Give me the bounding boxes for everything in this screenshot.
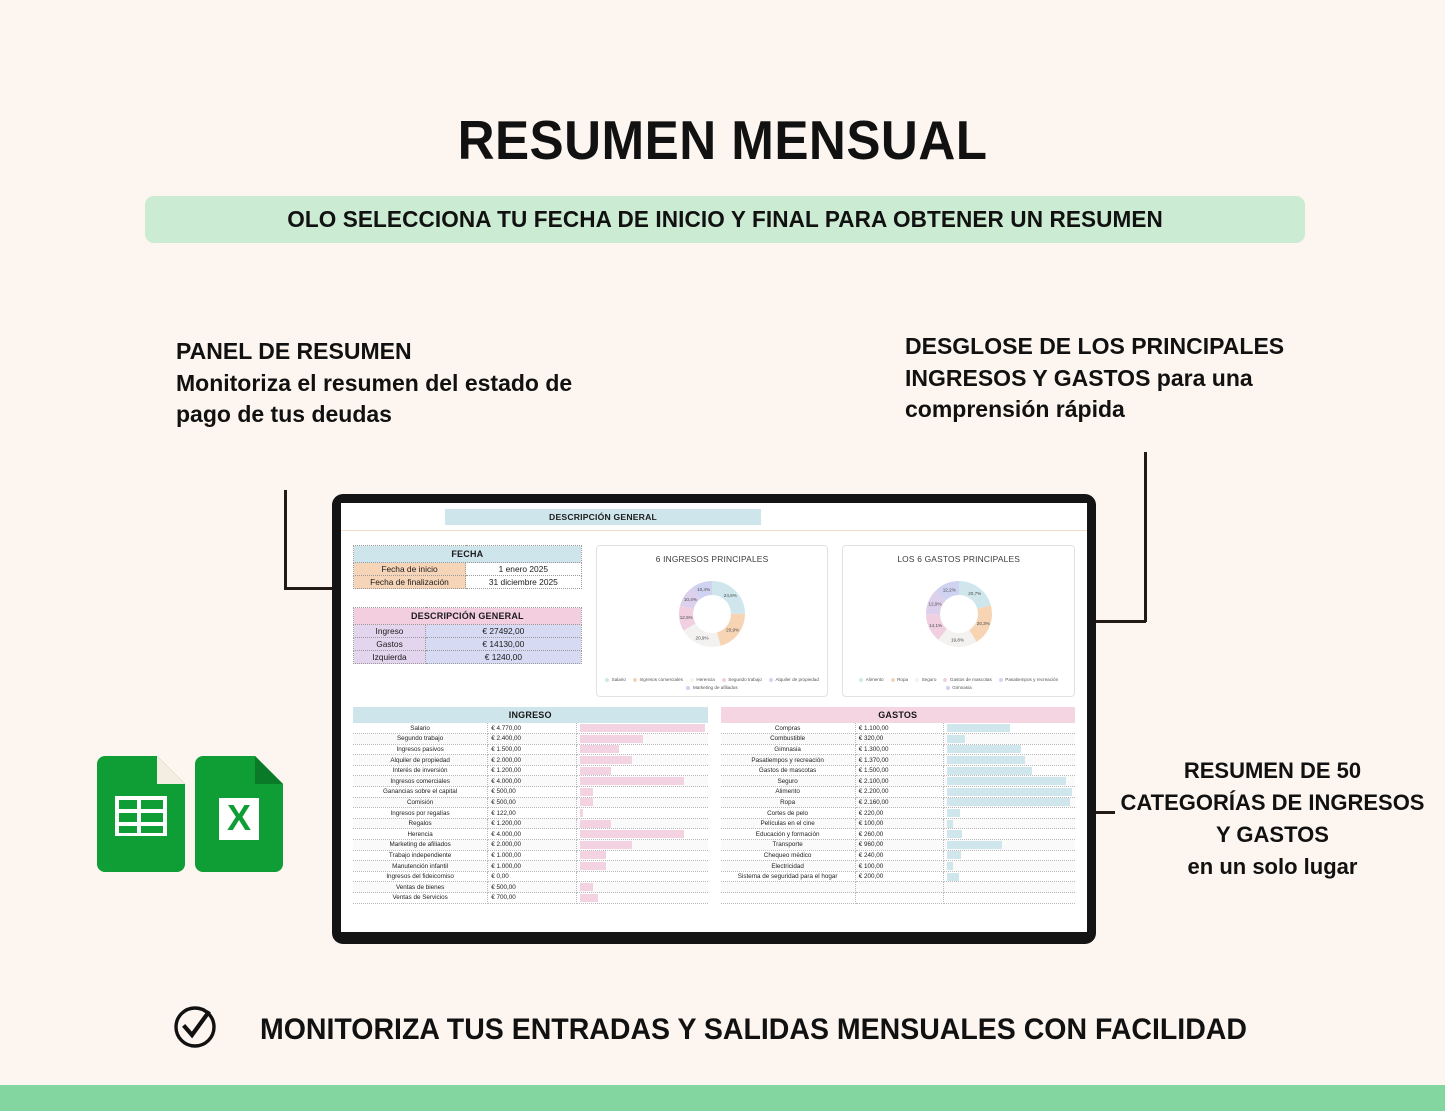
category-amount: € 100,00 [855,818,944,829]
table-row: Gastos € 14130,00 [354,638,582,651]
legend-item: Alquiler de propiedad [769,677,819,682]
expense-table-header: GASTOS [721,707,1076,723]
category-name: Combustible [721,734,856,745]
descripcion-label-gastos: Gastos [354,638,426,651]
legend-item: Salario [605,677,626,682]
annotation-summary-panel: PANEL DE RESUMEN Monitoriza el resumen d… [176,336,576,431]
legend-item: Pasatiempos y recreación [999,677,1058,682]
category-bar-cell [944,787,1075,798]
category-bar [580,767,611,775]
category-amount: € 320,00 [855,734,944,745]
category-amount: € 500,00 [488,882,577,893]
category-bar-cell [576,829,707,840]
category-bar-cell [944,755,1075,766]
category-bar [947,798,1069,806]
donut-segment-label: 24,9% [724,593,737,598]
table-row: Manutención infantil€ 1.000,00 [353,861,708,872]
table-row: Interés de inversión€ 1.200,00 [353,765,708,776]
category-bar [947,756,1025,764]
category-bar [580,841,632,849]
category-bar-cell [576,818,707,829]
category-bar [580,809,583,817]
donut-chart: 24,9%20,9%20,9%12,5%10,4%10,4% [664,566,760,662]
income-table: Salario€ 4.770,00Segundo trabajo€ 2.400,… [353,723,708,904]
category-bar-cell [576,850,707,861]
category-name: Manutención infantil [353,861,488,872]
category-name: Gastos de mascotas [721,765,856,776]
table-row: Educación y formación€ 260,00 [721,829,1076,840]
category-bar [580,745,619,753]
annotation-categories-strong: RESUMEN DE 50 CATEGORÍAS DE INGRESOS Y G… [1121,758,1425,847]
category-bar-cell [576,882,707,893]
legend-item: Marketing de afiliados [686,685,737,690]
table-row: Ganancias sobre el capital€ 500,00 [353,787,708,798]
category-bar-cell [944,808,1075,819]
income-donut-host: 24,9%20,9%20,9%12,5%10,4%10,4% [597,566,828,662]
donut-segment-label: 12,9% [928,601,941,606]
table-row: Cortes de pelo€ 220,00 [721,808,1076,819]
category-bar-cell [944,744,1075,755]
category-name: Sistema de seguridad para el hogar [721,871,856,882]
annotation-categories: RESUMEN DE 50 CATEGORÍAS DE INGRESOS Y G… [1120,755,1425,883]
check-circle-icon [172,1004,218,1055]
legend-swatch [943,678,947,682]
donut-segment-label: 10,4% [697,587,710,592]
category-bar [580,894,598,902]
fecha-start-value[interactable]: 1 enero 2025 [466,563,582,576]
legend-label: Pasatiempos y recreación [1005,677,1058,682]
fecha-end-label: Fecha de finalización [354,576,466,589]
donut-segment-label: 20,3% [976,621,989,626]
legend-label: Alquiler de propiedad [775,677,818,682]
legend-item: Seguro [915,677,936,682]
category-name: Comisión [353,797,488,808]
income-table-block: INGRESO Salario€ 4.770,00Segundo trabajo… [353,707,708,904]
annotation-breakdown: DESGLOSE DE LOS PRINCIPALES INGRESOS Y G… [905,331,1375,426]
category-bar-cell [944,818,1075,829]
income-table-header: INGRESO [353,707,708,723]
donut-segment-label: 19,8% [951,638,964,643]
legend-swatch [690,678,694,682]
category-name: Gimnasia [721,744,856,755]
legend-item: Alimento [859,677,883,682]
category-bar [580,735,643,743]
table-row: Salario€ 4.770,00 [353,723,708,734]
category-amount: € 200,00 [855,871,944,882]
category-bar [947,873,958,881]
category-name: Ventas de bienes [353,882,488,893]
category-bar-cell [576,808,707,819]
donut-segment-label: 20,7% [968,591,981,596]
legend-label: Salario [612,677,626,682]
category-name: Compras [721,723,856,734]
category-bar-cell [576,765,707,776]
category-amount: € 2.400,00 [488,734,577,745]
category-bar-cell [944,882,1075,893]
category-bar-cell [944,871,1075,882]
table-row: Izquierda € 1240,00 [354,651,582,664]
category-bar [580,724,705,732]
expense-chart-legend: AlimentoRopaSeguroGastos de mascotasPasa… [843,677,1074,690]
donut-chart: 20,7%20,3%19,8%14,1%12,9%12,2% [911,566,1007,662]
category-amount: € 220,00 [855,808,944,819]
category-amount [855,882,944,893]
category-name: Ganancias sobre el capital [353,787,488,798]
category-bar-cell [944,840,1075,851]
income-chart-title: 6 INGRESOS PRINCIPALES [597,554,828,564]
category-bar-cell [576,776,707,787]
category-name: Ventas de Servicios [353,893,488,904]
income-donut-card: 6 INGRESOS PRINCIPALES 24,9%20,9%20,9%12… [596,545,829,697]
category-bar [947,777,1066,785]
page-title: RESUMEN MENSUAL [51,108,1395,172]
category-amount: € 122,00 [488,808,577,819]
category-bar [947,820,953,828]
expense-table: Compras€ 1.100,00Combustible€ 320,00Gimn… [721,723,1076,904]
category-bar [947,767,1032,775]
detail-tables: INGRESO Salario€ 4.770,00Segundo trabajo… [341,697,1087,904]
category-name: Salario [353,723,488,734]
category-name: Películas en el cine [721,818,856,829]
table-row [721,893,1076,904]
table-row: Películas en el cine€ 100,00 [721,818,1076,829]
table-row: Ingresos pasivos€ 1.500,00 [353,744,708,755]
table-row: Comisión€ 500,00 [353,797,708,808]
table-row: Gimnasia€ 1.300,00 [721,744,1076,755]
table-row: Segundo trabajo€ 2.400,00 [353,734,708,745]
category-bar [580,798,593,806]
table-row: Trabajo independiente€ 1.000,00 [353,850,708,861]
legend-label: Herencia [696,677,714,682]
category-amount: € 2.000,00 [488,840,577,851]
category-amount: € 1.200,00 [488,818,577,829]
category-bar [947,724,1009,732]
table-row: Ingresos del fideicomiso€ 0,00 [353,871,708,882]
table-row: Alquiler de propiedad€ 2.000,00 [353,755,708,766]
fecha-table: FECHA Fecha de inicio 1 enero 2025 Fecha… [353,545,582,589]
sheet-title-text: DESCRIPCIÓN GENERAL [549,512,657,522]
category-name: Segundo trabajo [353,734,488,745]
category-name: Interés de inversión [353,765,488,776]
category-name: Marketing de afiliados [353,840,488,851]
legend-item: Ropa [891,677,908,682]
category-name: Pasatiempos y recreación [721,755,856,766]
table-row: Ventas de bienes€ 500,00 [353,882,708,893]
category-bar [947,788,1072,796]
expense-donut-host: 20,7%20,3%19,8%14,1%12,9%12,2% [843,566,1074,662]
subtitle-banner: OLO SELECCIONA TU FECHA DE INICIO Y FINA… [145,196,1305,243]
category-bar-cell [944,829,1075,840]
category-bar [947,841,1001,849]
legend-label: Alimento [866,677,884,682]
category-amount: € 100,00 [855,861,944,872]
category-name: Ingresos comerciales [353,776,488,787]
file-format-icons: X [97,756,283,872]
fecha-end-value[interactable]: 31 diciembre 2025 [466,576,582,589]
table-row: Ropa€ 2.160,00 [721,797,1076,808]
legend-swatch [686,686,690,690]
category-bar-cell [944,776,1075,787]
category-name: Educación y formación [721,829,856,840]
donut-segment-label: 12,2% [942,587,955,592]
table-row: Sistema de seguridad para el hogar€ 200,… [721,871,1076,882]
connector-right-vertical [1144,452,1147,622]
left-summary-column: FECHA Fecha de inicio 1 enero 2025 Fecha… [353,545,582,697]
donut-segment-label: 12,5% [680,615,693,620]
donut-segment-label: 10,4% [684,597,697,602]
category-bar-cell [576,893,707,904]
category-amount: € 0,00 [488,871,577,882]
donut-segment-label: 14,1% [929,623,942,628]
legend-label: Seguro [922,677,937,682]
category-bar-cell [576,871,707,882]
category-name: Trabajo independiente [353,850,488,861]
category-amount: € 4.000,00 [488,829,577,840]
descripcion-value-ingreso: € 27492,00 [426,625,582,638]
table-row: Ingresos por regalías€ 122,00 [353,808,708,819]
category-bar [580,851,606,859]
legend-item: Gimnasia [946,685,972,690]
category-amount: € 1.000,00 [488,861,577,872]
spreadsheet-screen: DESCRIPCIÓN GENERAL FECHA Fecha de inici… [341,503,1087,932]
category-name: Herencia [353,829,488,840]
category-bar [947,809,959,817]
legend-item: Ingresos comerciales [633,677,683,682]
category-bar [580,820,611,828]
sheet-topbar: DESCRIPCIÓN GENERAL [341,503,1087,531]
table-row: Ingresos comerciales€ 4.000,00 [353,776,708,787]
category-amount: € 1.500,00 [855,765,944,776]
category-name: Ropa [721,797,856,808]
legend-item: Herencia [690,677,715,682]
table-row: Ingreso € 27492,00 [354,625,582,638]
category-amount: € 4.770,00 [488,723,577,734]
category-amount: € 500,00 [488,797,577,808]
category-bar-cell [944,861,1075,872]
category-name: Alimento [721,787,856,798]
microsoft-excel-icon: X [195,756,283,872]
table-row: Gastos de mascotas€ 1.500,00 [721,765,1076,776]
table-row: Fecha de finalización 31 diciembre 2025 [354,576,582,589]
bottom-green-strip [0,1085,1445,1111]
category-name: Seguro [721,776,856,787]
category-name: Ingresos del fideicomiso [353,871,488,882]
donut-segment-label: 20,9% [726,627,739,632]
category-name: Alquiler de propiedad [353,755,488,766]
category-amount: € 1.200,00 [488,765,577,776]
donut-segment [712,588,738,614]
category-name: Electricidad [721,861,856,872]
category-amount: € 960,00 [855,840,944,851]
category-bar-cell [576,797,707,808]
category-name: Cortes de pelo [721,808,856,819]
annotation-categories-rest: en un solo lugar [1120,851,1425,883]
table-row: Pasatiempos y recreación€ 1.370,00 [721,755,1076,766]
legend-swatch [946,686,950,690]
category-amount: € 4.000,00 [488,776,577,787]
google-sheets-icon [97,756,185,872]
legend-swatch [722,678,726,682]
category-bar-cell [944,893,1075,904]
category-bar [580,830,685,838]
fecha-header: FECHA [354,546,582,563]
category-name [721,893,856,904]
descripcion-table: DESCRIPCIÓN GENERAL Ingreso € 27492,00 G… [353,607,582,664]
legend-swatch [633,678,637,682]
tablet-device-frame: DESCRIPCIÓN GENERAL FECHA Fecha de inici… [332,494,1096,944]
category-amount: € 2.000,00 [488,755,577,766]
expense-donut-card: LOS 6 GASTOS PRINCIPALES 20,7%20,3%19,8%… [842,545,1075,697]
legend-item: Segundo trabajo [722,677,762,682]
category-bar [947,862,953,870]
category-name: Ingresos pasivos [353,744,488,755]
table-row: Ventas de Servicios€ 700,00 [353,893,708,904]
annotation-summary-body: Monitoriza el resumen del estado de pago… [176,368,576,431]
fecha-start-label: Fecha de inicio [354,563,466,576]
category-bar [947,830,962,838]
legend-swatch [859,678,863,682]
top-panels: FECHA Fecha de inicio 1 enero 2025 Fecha… [341,531,1087,697]
category-amount: € 2.100,00 [855,776,944,787]
category-amount: € 2.160,00 [855,797,944,808]
category-name: Transporte [721,840,856,851]
category-bar-cell [944,723,1075,734]
descripcion-label-izquierda: Izquierda [354,651,426,664]
descripcion-header: DESCRIPCIÓN GENERAL [354,608,582,625]
legend-swatch [769,678,773,682]
table-row: Electricidad€ 100,00 [721,861,1076,872]
descripcion-label-ingreso: Ingreso [354,625,426,638]
category-bar [947,735,965,743]
annotation-summary-heading: PANEL DE RESUMEN [176,336,576,368]
category-bar-cell [576,861,707,872]
category-amount: € 1.300,00 [855,744,944,755]
expense-chart-title: LOS 6 GASTOS PRINCIPALES [843,554,1074,564]
descripcion-value-gastos: € 14130,00 [426,638,582,651]
category-bar [580,862,606,870]
category-bar [580,756,632,764]
category-name: Chequeo médico [721,850,856,861]
category-amount: € 1.500,00 [488,744,577,755]
category-name [721,882,856,893]
category-bar-cell [944,850,1075,861]
legend-label: Ingresos comerciales [639,677,682,682]
table-row: Transporte€ 960,00 [721,840,1076,851]
category-amount: € 700,00 [488,893,577,904]
legend-swatch [915,678,919,682]
legend-label: Marketing de afiliados [693,685,738,690]
table-row: Alimento€ 2.200,00 [721,787,1076,798]
category-bar-cell [576,755,707,766]
category-bar [947,851,961,859]
legend-label: Gastos de mascotas [950,677,992,682]
category-bar-cell [944,797,1075,808]
legend-label: Gimnasia [952,685,971,690]
legend-swatch [999,678,1003,682]
category-amount: € 2.200,00 [855,787,944,798]
category-bar-cell [576,744,707,755]
category-bar-cell [576,734,707,745]
legend-label: Segundo trabajo [728,677,762,682]
category-bar-cell [944,734,1075,745]
category-bar [947,745,1021,753]
donut-segment-label: 20,9% [696,636,709,641]
category-amount: € 260,00 [855,829,944,840]
category-bar-cell [944,765,1075,776]
category-amount: € 500,00 [488,787,577,798]
category-bar-cell [576,723,707,734]
legend-swatch [891,678,895,682]
table-row: Fecha de inicio 1 enero 2025 [354,563,582,576]
spacer [353,589,582,607]
category-bar-cell [576,787,707,798]
connector-left-vertical [284,490,287,590]
descripcion-value-izquierda: € 1240,00 [426,651,582,664]
table-row: Combustible€ 320,00 [721,734,1076,745]
category-name: Ingresos por regalías [353,808,488,819]
subtitle-text: OLO SELECCIONA TU FECHA DE INICIO Y FINA… [287,206,1163,233]
category-amount: € 1.000,00 [488,850,577,861]
category-amount: € 1.370,00 [855,755,944,766]
legend-label: Ropa [897,677,908,682]
table-row: Compras€ 1.100,00 [721,723,1076,734]
category-amount: € 1.100,00 [855,723,944,734]
category-amount [855,893,944,904]
category-amount: € 240,00 [855,850,944,861]
category-bar [580,883,593,891]
table-row: Marketing de afiliados€ 2.000,00 [353,840,708,851]
category-bar-cell [576,840,707,851]
category-name: Regalos [353,818,488,829]
table-row: Regalos€ 1.200,00 [353,818,708,829]
expense-table-block: GASTOS Compras€ 1.100,00Combustible€ 320… [721,707,1076,904]
table-row: Seguro€ 2.100,00 [721,776,1076,787]
footer-line: MONITORIZA TUS ENTRADAS Y SALIDAS MENSUA… [0,1004,1445,1055]
legend-swatch [605,678,609,682]
legend-item: Gastos de mascotas [943,677,991,682]
category-bar [580,788,593,796]
income-chart-legend: SalarioIngresos comercialesHerenciaSegun… [597,677,828,690]
sheet-title-chip: DESCRIPCIÓN GENERAL [445,509,761,525]
footer-text: MONITORIZA TUS ENTRADAS Y SALIDAS MENSUA… [260,1013,1247,1047]
svg-text:X: X [227,797,251,838]
table-row [721,882,1076,893]
category-bar [580,777,685,785]
table-row: Chequeo médico€ 240,00 [721,850,1076,861]
table-row: Herencia€ 4.000,00 [353,829,708,840]
